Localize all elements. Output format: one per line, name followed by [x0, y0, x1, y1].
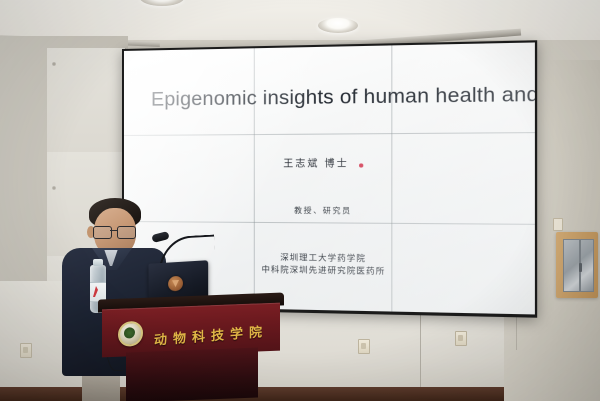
glasses-icon — [93, 226, 137, 237]
window-glass — [563, 239, 594, 292]
slide-title: Epigenomic insights of human health and … — [151, 83, 522, 111]
glasses-lens-right — [117, 226, 136, 239]
glasses-bridge — [110, 230, 117, 231]
window-frame — [556, 232, 598, 298]
podium-base — [126, 347, 258, 401]
lecture-hall-photo: Epigenomic insights of human health and … — [0, 0, 600, 401]
wall-panel — [47, 48, 126, 153]
podium: 动物科技学院 — [98, 296, 284, 401]
accent-dot-icon — [359, 163, 363, 167]
slide-presenter-role: 教授、研究员 — [124, 204, 535, 217]
panel-stud-icon — [52, 62, 56, 66]
laptop-crest-emblem-icon — [168, 276, 183, 292]
podium-label: 动物科技学院 — [154, 321, 268, 349]
slide-presenter-name: 王志斌 博士 — [283, 158, 349, 170]
panel-stud-icon — [52, 186, 56, 190]
slide-presenter-name-row: 王志斌 博士 — [124, 154, 535, 170]
power-outlet — [358, 339, 370, 354]
power-outlet — [20, 343, 32, 358]
bottle-cap — [93, 259, 103, 266]
wall-switch[interactable] — [553, 218, 563, 231]
power-outlet — [455, 331, 467, 346]
downlight-icon — [318, 18, 358, 33]
window-handle[interactable] — [579, 263, 582, 272]
college-crest-emblem-icon — [118, 320, 143, 347]
glasses-lens-left — [93, 226, 112, 239]
